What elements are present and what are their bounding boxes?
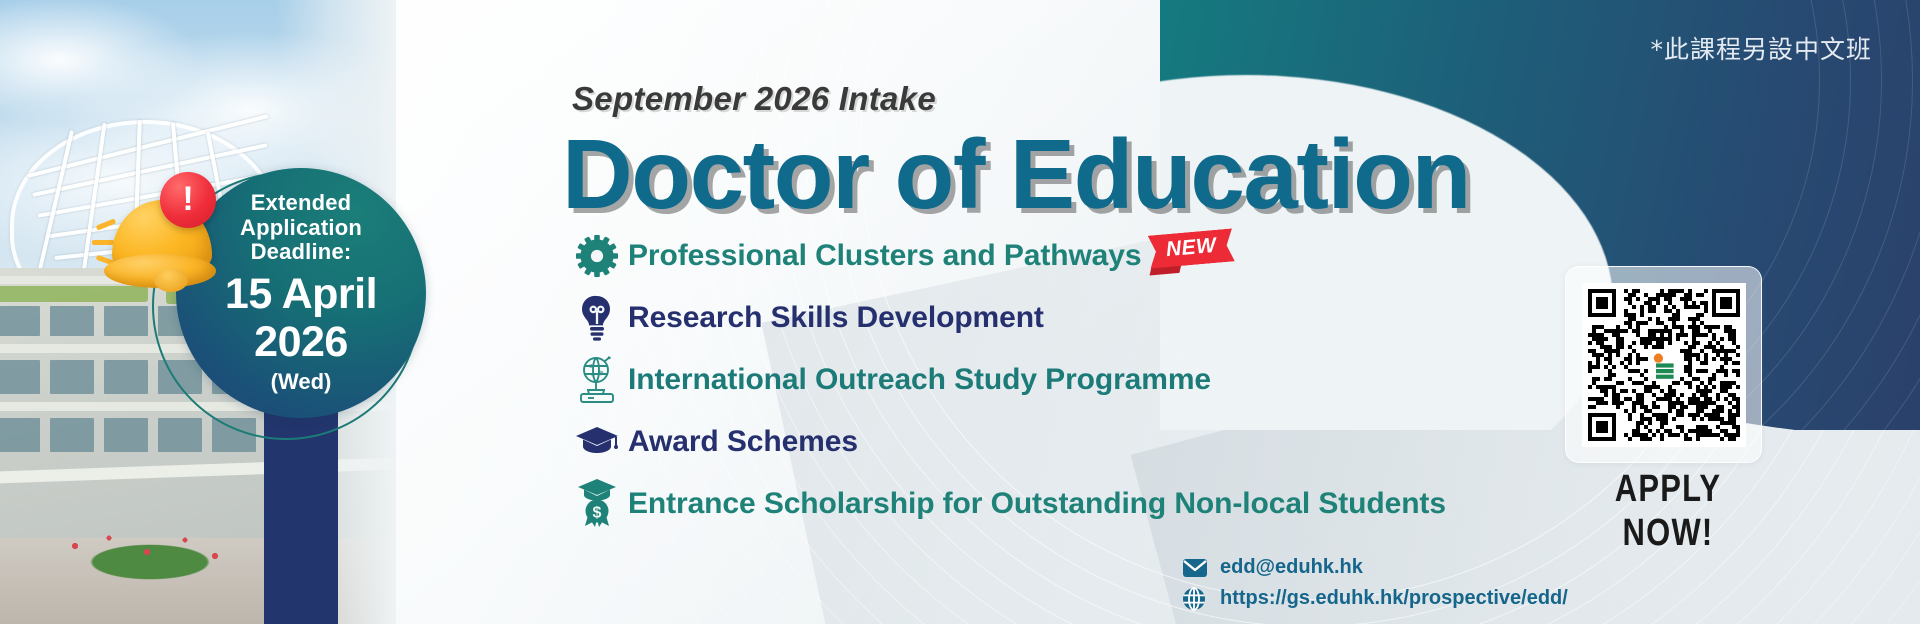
- qr-code-icon[interactable]: [1582, 283, 1746, 447]
- feature-row-3: Award Schemes: [566, 411, 1566, 473]
- deadline-weekday: (Wed): [271, 370, 332, 395]
- bell-icon: !: [102, 182, 222, 300]
- graduation-cap-icon: [566, 416, 628, 468]
- feature-label: Award Schemes: [628, 425, 858, 459]
- exclamation-icon: !: [160, 172, 216, 228]
- contact-email-text[interactable]: edd@eduhk.hk: [1220, 556, 1363, 579]
- new-badge: NEW: [1149, 232, 1234, 265]
- envelope-icon: [1182, 558, 1220, 578]
- feature-label: Entrance Scholarship for Outstanding Non…: [628, 487, 1446, 521]
- feature-label: Professional Clusters and Pathways: [628, 239, 1141, 273]
- globe-icon: [1182, 587, 1220, 611]
- deadline-line-2: Application: [240, 216, 362, 241]
- deadline-year: 2026: [254, 318, 348, 366]
- contact-website-text[interactable]: https://gs.eduhk.hk/prospective/edd/: [1220, 587, 1568, 610]
- svg-text:$: $: [593, 505, 602, 522]
- scholarship-medal-icon: $: [566, 478, 628, 530]
- chinese-class-note: *此課程另設中文班: [1650, 30, 1872, 66]
- feature-row-1: Research Skills Development: [566, 287, 1566, 349]
- gear-icon: [566, 230, 628, 282]
- flower-bed: [55, 528, 245, 588]
- feature-row-0: Professional Clusters and PathwaysNEW: [566, 225, 1566, 287]
- feature-row-4: $Entrance Scholarship for Outstanding No…: [566, 473, 1566, 535]
- contact-website-row[interactable]: https://gs.eduhk.hk/prospective/edd/: [1182, 583, 1568, 614]
- lightbulb-icon: [566, 292, 628, 344]
- globe-stand-icon: [566, 354, 628, 406]
- deadline-date: 15 April: [225, 270, 377, 318]
- apply-now-label[interactable]: APPLY NOW!: [1573, 467, 1763, 555]
- qr-code-card[interactable]: [1565, 266, 1762, 463]
- deadline-line-3: Deadline:: [251, 240, 352, 265]
- feature-label: Research Skills Development: [628, 301, 1044, 335]
- edd-promo-banner: *此課程另設中文班: [0, 0, 1920, 624]
- contact-block: edd@eduhk.hk https://gs.eduhk.hk/prospec…: [1182, 552, 1568, 614]
- page-title: Doctor of Education: [562, 118, 1470, 231]
- feature-label: International Outreach Study Programme: [628, 363, 1211, 397]
- intake-label: September 2026 Intake: [572, 80, 936, 118]
- deadline-line-1: Extended: [251, 191, 352, 216]
- new-badge-label: NEW: [1148, 228, 1235, 268]
- feature-list: Professional Clusters and PathwaysNEWRes…: [566, 225, 1566, 535]
- feature-row-2: International Outreach Study Programme: [566, 349, 1566, 411]
- contact-email-row[interactable]: edd@eduhk.hk: [1182, 552, 1568, 583]
